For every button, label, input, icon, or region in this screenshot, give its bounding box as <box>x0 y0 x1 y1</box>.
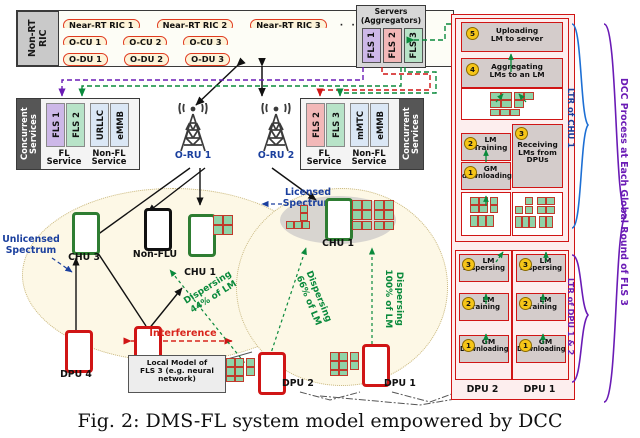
non-fl-service-group-right: Non-FL Service <box>347 149 391 166</box>
dpu1-step-lm-dispersing[interactable]: 3 LM Dispersing <box>516 254 566 282</box>
dpu2-step-gm-downloading[interactable]: 1 GM Downloading <box>459 335 509 363</box>
dcc-process-panel-label: DCC Process at Each Global Round of FLS … <box>618 78 629 306</box>
device-chu-3[interactable] <box>72 212 100 255</box>
non-fl-service-group-left: Non-FL Service <box>87 149 131 166</box>
o-ru-2-label: O-RU 2 <box>258 150 294 161</box>
unlicensed-spectrum-label: Unlicensed Spectrum <box>0 235 64 256</box>
step-uploading-lm[interactable]: 5 Uploading LM to server <box>461 22 563 52</box>
o-du-2[interactable]: O-DU 2 <box>124 53 169 66</box>
step-number-3: 3 <box>462 258 475 271</box>
o-ru-1[interactable]: O-RU 1 <box>165 96 221 168</box>
service-urllc[interactable]: URLLC <box>90 103 109 147</box>
dpu-1-column-label: DPU 1 <box>512 384 567 395</box>
step-number-1: 1 <box>464 166 477 179</box>
step-number-1: 1 <box>519 339 532 352</box>
ltr-dpu-bracket-label: LTR of DPU 1 & 2 <box>566 278 576 355</box>
cs-left-label2: Services <box>28 114 38 154</box>
dpu2-step-lm-dispersing[interactable]: 3 LM Dispersing <box>459 254 509 282</box>
service-fls-2-right[interactable]: FLS 2 <box>306 103 325 147</box>
step-number-5: 5 <box>466 27 479 40</box>
service-fls-3-right[interactable]: FLS 3 <box>326 103 345 147</box>
fl-service-group-left: FL Service <box>44 149 84 166</box>
interference-label: Interference <box>141 328 225 339</box>
chu-1-right-label: CHU 1 <box>316 238 360 249</box>
chu-lm-visual-right <box>512 192 563 236</box>
service-mmtc[interactable]: mMTC <box>350 103 369 147</box>
step-aggregating-lms[interactable]: 4 Aggregating LMs to an LM <box>461 58 563 88</box>
dpu1-step-lm-training[interactable]: 2 LM Training <box>516 293 566 321</box>
local-model-callout: Local Model of FLS 3 (e.g. neural networ… <box>128 355 226 393</box>
figure-caption: Fig. 2: DMS-FL system model empowered by… <box>0 410 640 432</box>
server-fls-3[interactable]: FLS 3 <box>404 28 423 63</box>
callout-line3: network) <box>129 375 225 383</box>
chu-1-right-model-left <box>286 205 316 230</box>
servers-title-line1: Servers <box>357 6 425 15</box>
step-number-4: 4 <box>466 63 479 76</box>
dpu-1-label: DPU 1 <box>384 378 424 389</box>
service-fls-2-left[interactable]: FLS 2 <box>66 103 85 147</box>
dpu-2-label: DPU 2 <box>282 378 322 389</box>
aggregated-model-box <box>461 88 563 120</box>
server-fls-2[interactable]: FLS 2 <box>383 28 402 63</box>
dpu2-step-lm-training[interactable]: 2 LM Training <box>459 293 509 321</box>
o-ru-1-label: O-RU 1 <box>175 150 211 161</box>
step-number-2: 2 <box>462 297 475 310</box>
step-number-2: 2 <box>519 297 532 310</box>
fl-service-group-right: FL Service <box>304 149 344 166</box>
cs-right-label2: Services <box>410 114 420 154</box>
device-chu-1-right[interactable] <box>325 198 353 241</box>
radio-tower-icon <box>256 103 296 153</box>
servers-aggregators-block: Servers (Aggregators) FLS 1 FLS 2 FLS 3 <box>356 5 426 68</box>
ltr-chu-1-bracket-label: LTR of CHU 1 <box>566 88 576 148</box>
device-chu-1-left[interactable] <box>188 214 216 257</box>
non-rt-ric-block[interactable]: Non-RT RIC <box>17 11 59 66</box>
concurrent-services-left: Concurrent Services FLS 1 FLS 2 URLLC eM… <box>16 98 140 170</box>
service-embb-right[interactable]: eMMB <box>370 103 389 147</box>
service-embb-left[interactable]: eMMB <box>110 103 129 147</box>
step-number-2: 2 <box>464 137 477 150</box>
step-lm-training-chu[interactable]: 2 LM Training <box>461 133 511 161</box>
concurrent-services-right: FLS 2 FLS 3 mMTC eMMB FL Service Non-FL … <box>300 98 424 170</box>
non-rt-ric-label: Non-RT RIC <box>27 12 49 65</box>
chu-lm-visual-left <box>461 192 511 236</box>
device-dpu-4[interactable] <box>65 330 93 373</box>
step-number-3: 3 <box>519 258 532 271</box>
step-number-1: 1 <box>462 339 475 352</box>
step-receiving-lms[interactable]: 3 Receiving LMs from DPUs <box>512 124 563 188</box>
non-flu-label: Non-FLU <box>126 249 184 260</box>
servers-title-line2: (Aggregators) <box>357 15 425 24</box>
chu-3-label: CHU 3 <box>62 252 106 263</box>
step-number-3: 3 <box>515 127 528 140</box>
concurrent-services-left-sidebar: Concurrent Services <box>17 99 41 169</box>
dpu-1-model-grid <box>330 352 360 376</box>
o-ru-2[interactable]: O-RU 2 <box>248 96 304 168</box>
dpu-2-column-label: DPU 2 <box>455 384 510 395</box>
dispersing-100-label: Dispersing 100% of LM <box>382 260 404 338</box>
dpu-2-ltr-column: 3 LM Dispersing 2 LM Training 1 GM Downl… <box>455 250 512 380</box>
dpu1-step-gm-downloading[interactable]: 1 GM Downloading <box>516 335 566 363</box>
step-gm-downloading-chu[interactable]: 1 GM downloading <box>461 162 511 190</box>
chu-1-left-model-grid <box>213 215 233 235</box>
dpu-1-ltr-column: 3 LM Dispersing 2 LM Training 1 GM Downl… <box>512 250 569 380</box>
server-fls-1[interactable]: FLS 1 <box>362 28 381 63</box>
dpu-4-label: DPU 4 <box>54 369 98 380</box>
concurrent-services-right-sidebar: Concurrent Services <box>399 99 423 169</box>
chu-1-right-model-right <box>352 200 394 232</box>
o-du-3[interactable]: O-DU 3 <box>185 53 230 66</box>
dpu-2-model-grid <box>226 358 256 382</box>
o-du-1[interactable]: O-DU 1 <box>63 53 108 66</box>
device-non-flu[interactable] <box>144 208 172 251</box>
radio-tower-icon <box>173 103 213 153</box>
service-fls-1-left[interactable]: FLS 1 <box>46 103 65 147</box>
